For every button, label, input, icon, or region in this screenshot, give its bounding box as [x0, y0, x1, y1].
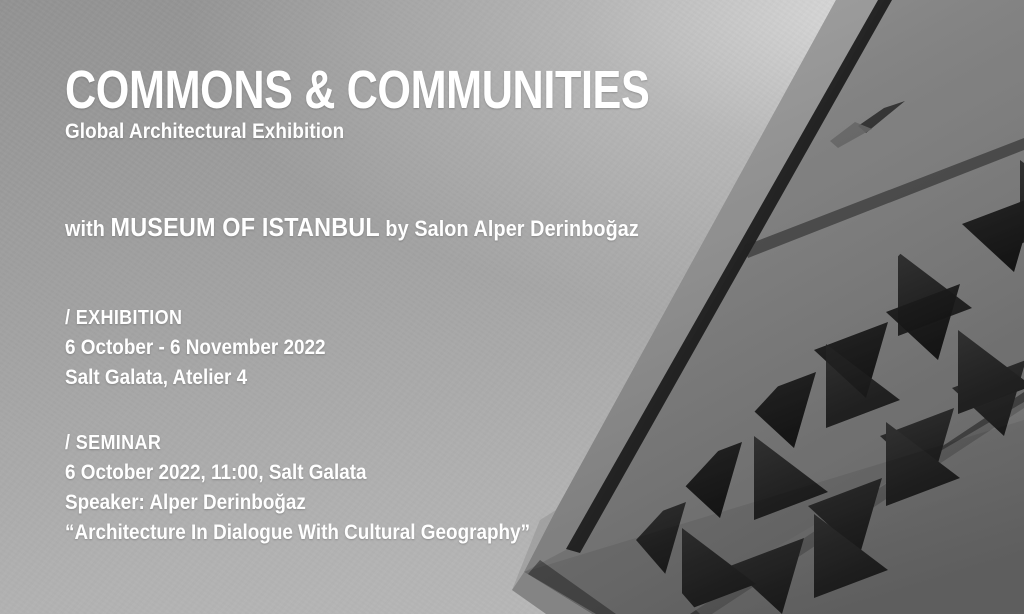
section-line: Salt Galata, Atelier 4 [65, 363, 326, 393]
page-subtitle: Global Architectural Exhibition [65, 119, 344, 145]
partner-line: with MUSEUM OF ISTANBUL by Salon Alper D… [65, 212, 639, 244]
section-line: 6 October - 6 November 2022 [65, 333, 326, 363]
section-heading: / SEMINAR [65, 428, 530, 458]
section-line: Speaker: Alper Derinboğaz [65, 488, 530, 518]
page-title: COMMONS & COMMUNITIES [65, 62, 649, 118]
section-line: 6 October 2022, 11:00, Salt Galata [65, 458, 530, 488]
partner-suffix: by Salon Alper Derinboğaz [380, 216, 639, 241]
section-seminar: / SEMINAR 6 October 2022, 11:00, Salt Ga… [65, 428, 582, 548]
section-exhibition: / EXHIBITION 6 October - 6 November 2022… [65, 303, 354, 393]
poster-text-layer: COMMONS & COMMUNITIES Global Architectur… [0, 0, 1024, 614]
partner-institution: MUSEUM OF ISTANBUL [111, 212, 380, 242]
exhibition-poster: COMMONS & COMMUNITIES Global Architectur… [0, 0, 1024, 614]
section-heading: / EXHIBITION [65, 303, 326, 333]
section-line: “Architecture In Dialogue With Cultural … [65, 518, 530, 548]
partner-prefix: with [65, 216, 111, 241]
